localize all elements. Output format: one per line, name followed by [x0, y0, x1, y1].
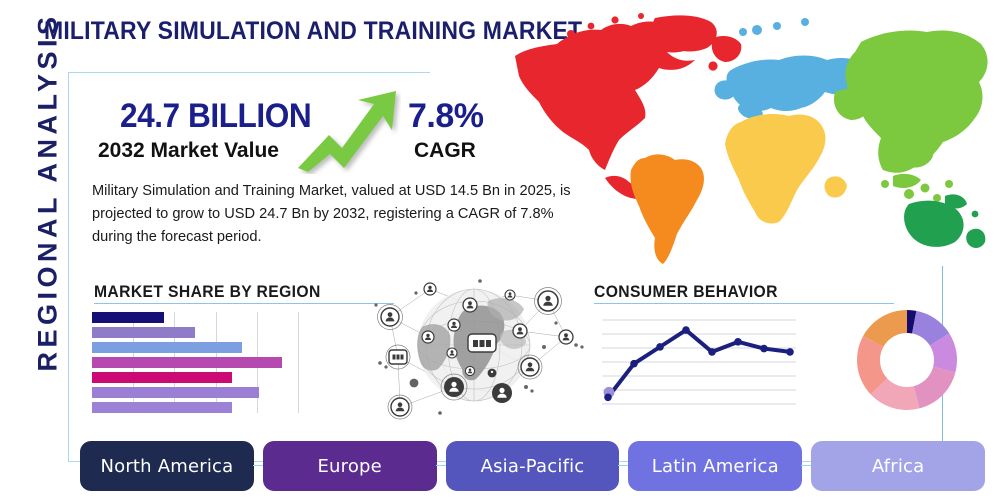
region-connector-2 [436, 465, 447, 466]
growth-arrow-icon [296, 88, 401, 174]
line-marker-8 [786, 348, 794, 356]
world-map-icon [505, 8, 997, 270]
page-title: MILITARY SIMULATION AND TRAINING MARKET [44, 17, 582, 46]
donut-hole [880, 333, 934, 387]
line-marker-3 [656, 343, 664, 351]
consumer-behavior-section-title: CONSUMER BEHAVIOR [594, 283, 778, 302]
bar-5 [92, 372, 232, 383]
line-marker-1 [604, 393, 612, 401]
region-button-north-america[interactable]: North America [80, 441, 254, 491]
bar-row [92, 372, 298, 383]
bar-6 [92, 387, 259, 398]
bar-row [92, 357, 298, 368]
consumer-behavior-line-chart [600, 312, 798, 414]
line-marker-5 [708, 348, 716, 356]
bar-4 [92, 357, 282, 368]
market-share-underline [94, 303, 394, 304]
region-button-europe[interactable]: Europe [263, 441, 437, 491]
cagr-figure: 7.8% [408, 97, 484, 136]
region-button-asia-pacific[interactable]: Asia-Pacific [446, 441, 620, 491]
bar-gridline-4 [298, 312, 299, 413]
region-button-latin-america[interactable]: Latin America [628, 441, 802, 491]
bar-1 [92, 312, 164, 323]
cagr-caption: CAGR [414, 139, 476, 163]
line-marker-4 [682, 326, 690, 334]
line-marker-2 [630, 360, 638, 368]
market-value-caption: 2032 Market Value [98, 139, 279, 163]
market-value-figure: 24.7 BILLION [120, 97, 311, 136]
bar-row [92, 327, 298, 338]
bar-row [92, 342, 298, 353]
region-button-africa[interactable]: Africa [811, 441, 985, 491]
global-network-globe-icon [370, 275, 585, 423]
line-marker-7 [760, 345, 768, 353]
bar-row [92, 402, 298, 413]
bar-row [92, 387, 298, 398]
bar-2 [92, 327, 195, 338]
bar-row [92, 312, 298, 323]
bar-7 [92, 402, 232, 413]
infographic-canvas: REGIONAL ANALYSIS MILITARY SIMULATION AN… [0, 0, 1000, 500]
regional-donut-chart [855, 308, 959, 412]
market-share-bar-chart [92, 312, 298, 413]
market-share-section-title: MARKET SHARE BY REGION [94, 283, 321, 302]
region-button-bar: North AmericaEuropeAsia-PacificLatin Ame… [80, 441, 985, 491]
vertical-section-label: REGIONAL ANALYSIS [33, 52, 64, 372]
bar-chart-bars [92, 312, 298, 413]
bar-3 [92, 342, 242, 353]
line-marker-6 [734, 338, 742, 346]
consumer-behavior-underline [594, 303, 894, 304]
